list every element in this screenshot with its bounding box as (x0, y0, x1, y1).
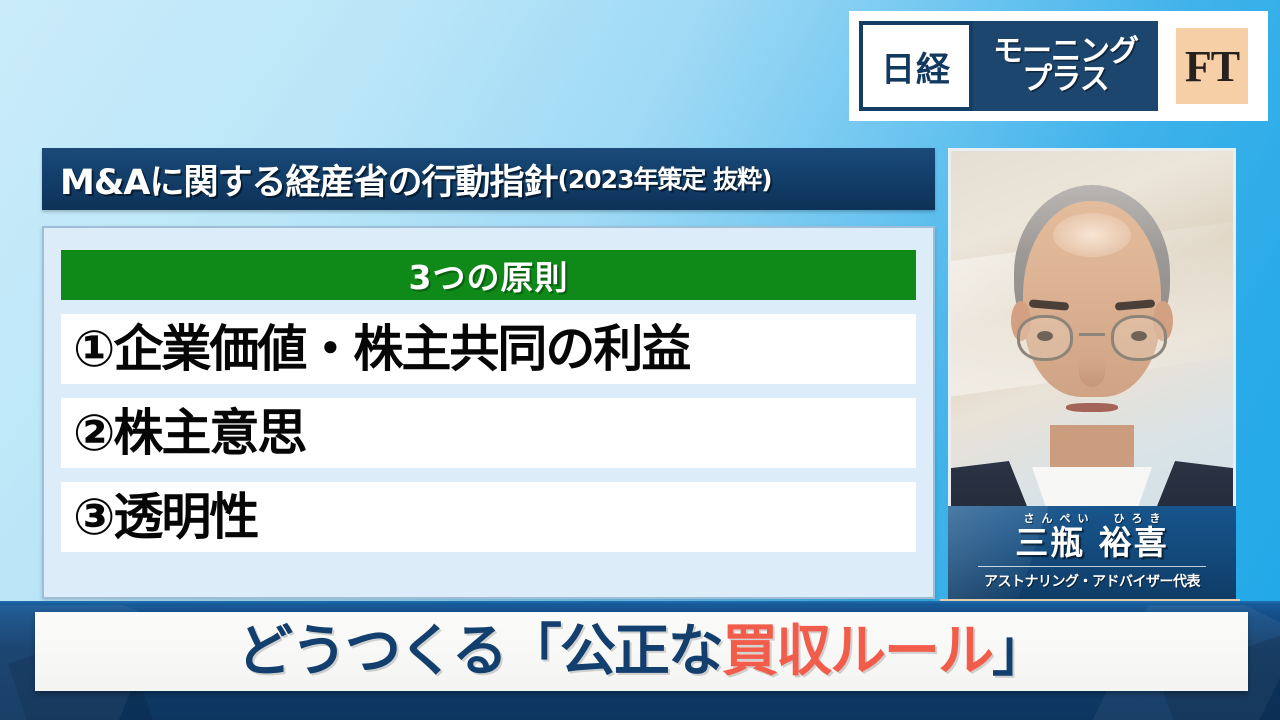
broadcast-screen: 日経 モーニング プラス FT M&Aに関する経産省の行動指針 (2023年策定… (0, 0, 1280, 720)
glasses-bridge-icon (1079, 333, 1105, 336)
guest-mouth (1066, 403, 1118, 412)
topic-title-sub: (2023年策定 抜粋) (557, 160, 771, 198)
morning-plus-logo: モーニング プラス (973, 21, 1158, 111)
headline-part-2: 買収ルール (722, 624, 992, 680)
headline-part-1: どうつくる「公正な (237, 624, 722, 680)
principles-heading-text: 3つの原則 (409, 251, 569, 299)
principle-text: ②株主意思 (73, 408, 305, 458)
guest-affiliation: アストナリング・アドバイザー代表 (948, 571, 1236, 591)
guest-nameplate: さんぺい ひろき 三瓶 裕喜 アストナリング・アドバイザー代表 (948, 506, 1236, 599)
principle-text: ①企業価値・株主共同の利益 (73, 324, 689, 374)
ft-logo-text: FT (1185, 41, 1239, 92)
program-logo-bar: 日経 モーニング プラス FT (849, 11, 1268, 121)
guest-name: 三瓶 裕喜 (948, 526, 1236, 561)
glasses-lens-left-icon (1017, 315, 1073, 361)
topic-title-main: M&Aに関する経産省の行動指針 (60, 154, 557, 205)
nikkei-logo: 日経 (859, 21, 973, 111)
principle-text: ③透明性 (73, 492, 257, 542)
glasses-lens-right-icon (1111, 315, 1167, 361)
principles-panel: 3つの原則 ①企業価値・株主共同の利益 ②株主意思 ③透明性 (42, 226, 935, 599)
guest-forehead-highlight (1053, 213, 1131, 257)
principles-panel-heading: 3つの原則 (61, 250, 916, 300)
principle-row: ③透明性 (61, 482, 916, 552)
nameplate-divider (978, 566, 1206, 567)
band-top-divider (0, 601, 1280, 605)
headline-part-3: 」 (992, 624, 1046, 680)
nikkei-logo-text: 日経 (881, 42, 951, 91)
principle-row: ②株主意思 (61, 398, 916, 468)
guest-nose (1079, 357, 1105, 387)
morning-plus-line2: プラス (1022, 66, 1108, 94)
ft-logo: FT (1176, 28, 1248, 104)
headline-band: どうつくる「公正な 買収ルール 」 (35, 612, 1248, 691)
topic-title-bar: M&Aに関する経産省の行動指針 (2023年策定 抜粋) (42, 148, 935, 210)
principle-row: ①企業価値・株主共同の利益 (61, 314, 916, 384)
